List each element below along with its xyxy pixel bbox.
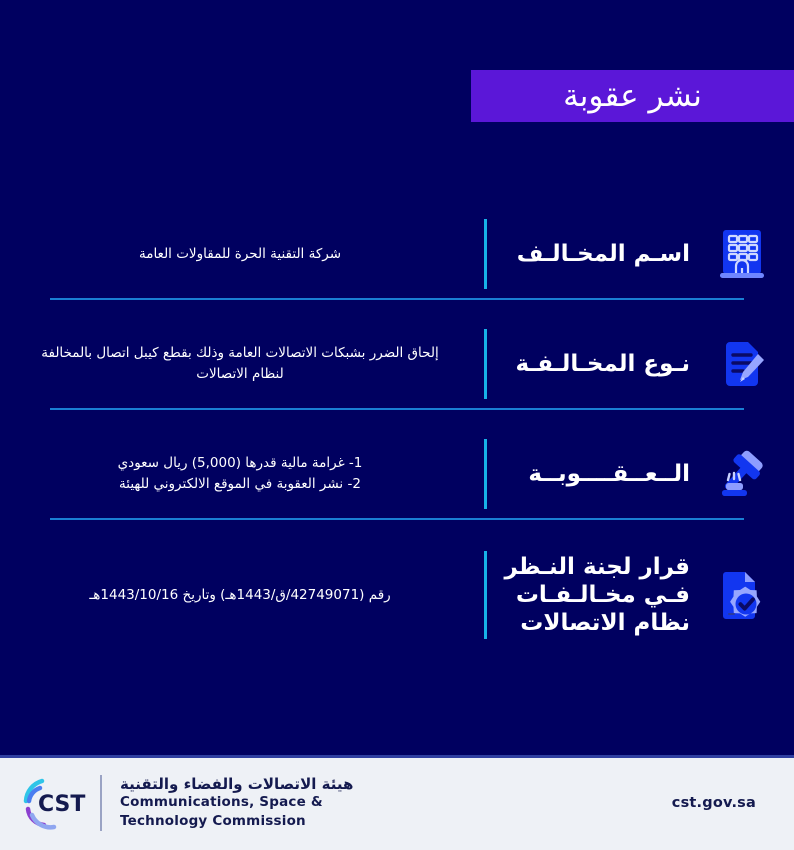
org-name-english-line1: Communications, Space &	[120, 794, 353, 812]
row-divider	[50, 408, 744, 410]
title-banner: نشر عقوبة	[471, 70, 794, 122]
row-separator	[480, 329, 490, 399]
row-value-cell: شركة التقنية الحرة للمقاولات العامة	[0, 244, 480, 265]
row-divider	[50, 298, 744, 300]
table-row: إلحاق الضرر بشبكات الاتصالات العامة وذلك…	[0, 320, 794, 408]
building-icon	[690, 210, 794, 298]
document-pen-icon	[690, 320, 794, 408]
row-value-cell: رقم (42749071/ق/1443هـ) وتاريخ 1443/10/1…	[0, 585, 480, 606]
row-separator	[480, 551, 490, 639]
cst-logo: CST	[0, 771, 100, 835]
gavel-icon	[690, 430, 794, 518]
decision-reference-label: قرار لجنة النـظر فـي مخـالـفـات نظام الا…	[504, 553, 690, 637]
penalty-label: الــعــقــــوبــة	[528, 460, 690, 488]
org-name-arabic: هيئة الاتصالات والفضاء والتقنية	[120, 775, 353, 794]
table-row: رقم (42749071/ق/1443هـ) وتاريخ 1443/10/1…	[0, 540, 794, 650]
svg-text:CST: CST	[38, 792, 85, 817]
row-label-cell: اسـم المخـالـف	[490, 240, 690, 268]
row-value-cell: 1- غرامة مالية قدرها (5,000) ريال سعودي …	[0, 453, 480, 495]
verified-document-icon	[690, 540, 794, 650]
table-row: شركة التقنية الحرة للمقاولات العامة اسـم…	[0, 210, 794, 298]
violation-type-value: إلحاق الضرر بشبكات الاتصالات العامة وذلك…	[41, 343, 438, 385]
row-separator	[480, 219, 490, 289]
row-divider	[50, 518, 744, 520]
row-value-cell: إلحاق الضرر بشبكات الاتصالات العامة وذلك…	[0, 343, 480, 385]
row-label-cell: نـوع المخـالـفـة	[490, 350, 690, 378]
footer-top-rule	[0, 755, 794, 758]
org-name-english-line2: Technology Commission	[120, 813, 353, 831]
details-table: شركة التقنية الحرة للمقاولات العامة اسـم…	[0, 210, 794, 650]
row-label-cell: الــعــقــــوبــة	[490, 460, 690, 488]
decision-reference-value: رقم (42749071/ق/1443هـ) وتاريخ 1443/10/1…	[89, 585, 390, 606]
violator-name-label: اسـم المخـالـف	[517, 240, 690, 268]
violator-name-value: شركة التقنية الحرة للمقاولات العامة	[139, 244, 341, 265]
row-label-cell: قرار لجنة النـظر فـي مخـالـفـات نظام الا…	[490, 553, 690, 637]
row-separator	[480, 439, 490, 509]
website-url[interactable]: cst.gov.sa	[672, 795, 756, 811]
penalty-value: 1- غرامة مالية قدرها (5,000) ريال سعودي …	[118, 453, 363, 495]
footer-org-names: هيئة الاتصالات والفضاء والتقنية Communic…	[120, 775, 353, 831]
table-row: 1- غرامة مالية قدرها (5,000) ريال سعودي …	[0, 430, 794, 518]
footer: CST هيئة الاتصالات والفضاء والتقنية Comm…	[0, 755, 794, 850]
penalty-publication-poster: نشر عقوبة شركة التقنية الحرة للمقاولات ا…	[0, 0, 794, 850]
violation-type-label: نـوع المخـالـفـة	[515, 350, 690, 378]
page-title: نشر عقوبة	[563, 81, 702, 112]
footer-divider	[100, 775, 102, 831]
